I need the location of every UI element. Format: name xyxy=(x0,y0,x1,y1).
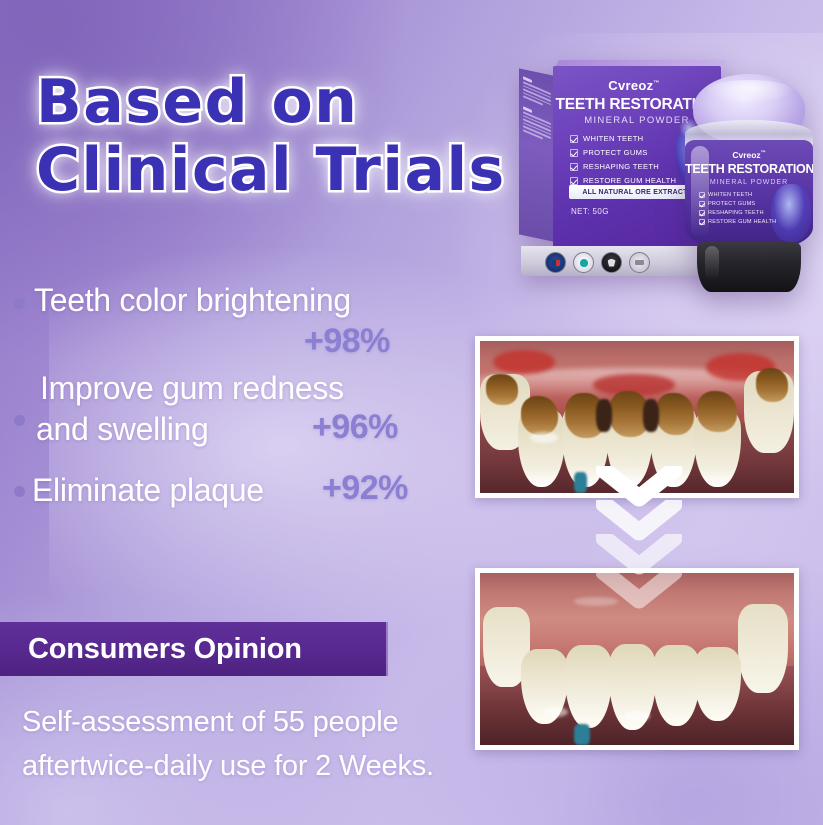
jar-feature-item: PROTECT GUMS xyxy=(699,201,776,207)
benefit-item-2: Improve gum redness and swelling +96% xyxy=(14,368,466,464)
checkbox-icon xyxy=(699,219,705,225)
product-box-side-panel xyxy=(519,68,555,242)
footnote-line-1: Self-assessment of 55 people xyxy=(22,700,434,744)
benefit-percent: +98% xyxy=(304,322,390,361)
guarantee-seal-icon xyxy=(629,252,650,273)
side-panel-block xyxy=(523,76,551,109)
product-feature-item: RESHAPING TEETH xyxy=(570,162,676,171)
headline-line-2: Clinical Trials xyxy=(36,136,506,204)
tooth-shine xyxy=(530,432,558,443)
benefit-percent: +96% xyxy=(312,408,398,447)
jar-subtitle: MINERAL POWDER xyxy=(685,179,813,186)
side-panel-block xyxy=(523,106,551,142)
benefit-item-1: Teeth color brightening +98% xyxy=(14,280,466,362)
certification-seals xyxy=(545,252,650,273)
dental-instrument xyxy=(574,472,587,493)
footnote: Self-assessment of 55 people aftertwice-… xyxy=(22,700,434,788)
jar-feature-item: WHITEN TEETH xyxy=(699,192,776,198)
bullet-dot-icon xyxy=(14,415,25,426)
tartar-deposit xyxy=(697,391,738,432)
benefit-label-line-1: Improve gum redness xyxy=(40,368,344,408)
jar-feature-item: RESHAPING TEETH xyxy=(699,210,776,216)
jar-label: Cvreoz™ TEETH RESTORATION MINERAL POWDER… xyxy=(685,140,813,252)
checkbox-icon xyxy=(699,210,705,216)
checkbox-icon xyxy=(699,192,705,198)
tartar-deposit xyxy=(521,396,559,436)
consumers-opinion-title: Consumers Opinion xyxy=(28,633,302,666)
quality-certified-seal-icon xyxy=(573,252,594,273)
shield-emblem-seal-icon xyxy=(601,252,622,273)
jar-base xyxy=(697,242,801,292)
product-image: Cvreoz™ TEETH RESTORATION MINERAL POWDER… xyxy=(505,46,823,296)
product-feature-item: PROTECT GUMS xyxy=(570,148,676,157)
jar-mineral-graphic xyxy=(771,184,811,242)
checkbox-icon xyxy=(570,135,578,143)
checkbox-icon xyxy=(699,201,705,207)
jar-brand: Cvreoz™ xyxy=(685,150,813,160)
chevron-down-icon xyxy=(596,568,682,610)
bullet-dot-icon xyxy=(14,298,25,309)
checkbox-icon xyxy=(570,163,578,171)
down-chevron-arrows xyxy=(596,466,682,610)
jar-title: TEETH RESTORATION xyxy=(685,162,813,176)
jar-feature-item: RESTORE GUM HEALTH xyxy=(699,219,776,225)
benefit-percent: +92% xyxy=(322,469,408,508)
bullet-dot-icon xyxy=(14,486,25,497)
headline-line-1: Based on xyxy=(36,68,506,136)
checkbox-icon xyxy=(570,177,578,185)
product-feature-list: WHITEN TEETH PROTECT GUMS RESHAPING TEET… xyxy=(570,134,676,185)
tartar-deposit xyxy=(656,393,694,436)
tartar-deposit xyxy=(756,368,787,401)
advertisement-canvas: Based on Clinical Trials xyxy=(0,0,823,825)
net-weight-label: NET: 50G xyxy=(571,207,609,216)
product-feature-item: RESTORE GUM HEALTH xyxy=(570,176,676,185)
tartar-deposit xyxy=(486,374,517,404)
checkbox-icon xyxy=(570,149,578,157)
benefit-label-line-2: and swelling xyxy=(36,409,209,449)
side-panel-text xyxy=(523,76,551,142)
product-feature-item: WHITEN TEETH xyxy=(570,134,676,143)
jar-feature-list: WHITEN TEETH PROTECT GUMS RESHAPING TEET… xyxy=(699,192,776,225)
footnote-line-2: aftertwice-daily use for 2 Weeks. xyxy=(22,744,434,788)
product-jar: Cvreoz™ TEETH RESTORATION MINERAL POWDER… xyxy=(681,74,817,290)
tooth xyxy=(738,604,788,693)
tooth-gap-shadow xyxy=(596,399,612,432)
benefit-item-3: Eliminate plaque +92% xyxy=(14,470,466,530)
headline: Based on Clinical Trials xyxy=(36,68,506,204)
benefits-list: Teeth color brightening +98% Improve gum… xyxy=(14,280,466,536)
australia-flag-seal-icon xyxy=(545,252,566,273)
dental-instrument xyxy=(574,724,590,745)
tooth-shine xyxy=(624,711,649,721)
benefit-label: Eliminate plaque xyxy=(32,470,264,510)
benefit-label: Teeth color brightening xyxy=(34,280,351,320)
tooth-gap-shadow xyxy=(643,399,659,432)
consumers-opinion-banner: Consumers Opinion xyxy=(0,622,388,676)
